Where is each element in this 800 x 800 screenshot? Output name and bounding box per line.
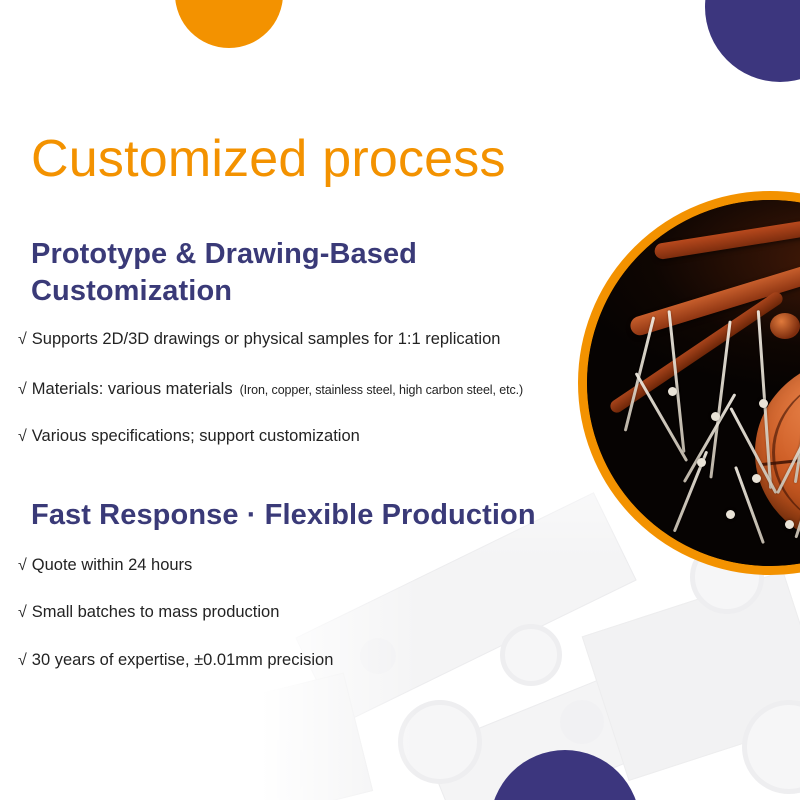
check-icon: √ — [18, 651, 27, 670]
check-icon: √ — [18, 603, 27, 622]
check-icon: √ — [18, 427, 27, 446]
basketball-hoop-photo — [578, 191, 800, 575]
banner-canvas: Customized process Prototype & Drawing-B… — [0, 0, 800, 800]
list-item-note: (Iron, copper, stainless steel, high car… — [240, 383, 523, 397]
list-item: √Supports 2D/3D drawings or physical sam… — [18, 330, 500, 350]
check-icon: √ — [18, 556, 27, 575]
check-icon: √ — [18, 330, 27, 349]
purple-circle-top-right — [705, 0, 800, 82]
list-item-label: Various specifications; support customiz… — [32, 427, 360, 445]
list-item-label: Materials: various materials — [32, 380, 233, 398]
list-item-label: 30 years of expertise, ±0.01mm precision — [32, 651, 334, 669]
list-item: √Quote within 24 hours — [18, 556, 192, 576]
check-icon: √ — [18, 380, 27, 399]
section-heading-fast-response: Fast Response · Flexible Production — [31, 497, 536, 534]
page-title: Customized process — [31, 133, 506, 185]
purple-circle-bottom — [490, 750, 640, 800]
list-item: √Materials: various materials(Iron, copp… — [18, 380, 523, 400]
section-heading-prototype: Prototype & Drawing-Based Customization — [31, 236, 501, 310]
list-item-label: Supports 2D/3D drawings or physical samp… — [32, 330, 501, 348]
list-item-label: Quote within 24 hours — [32, 556, 193, 574]
orange-circle-top — [175, 0, 283, 48]
list-item: √Small batches to mass production — [18, 603, 279, 623]
list-item-label: Small batches to mass production — [32, 603, 280, 621]
list-item: √Various specifications; support customi… — [18, 427, 360, 447]
list-item: √30 years of expertise, ±0.01mm precisio… — [18, 651, 333, 671]
